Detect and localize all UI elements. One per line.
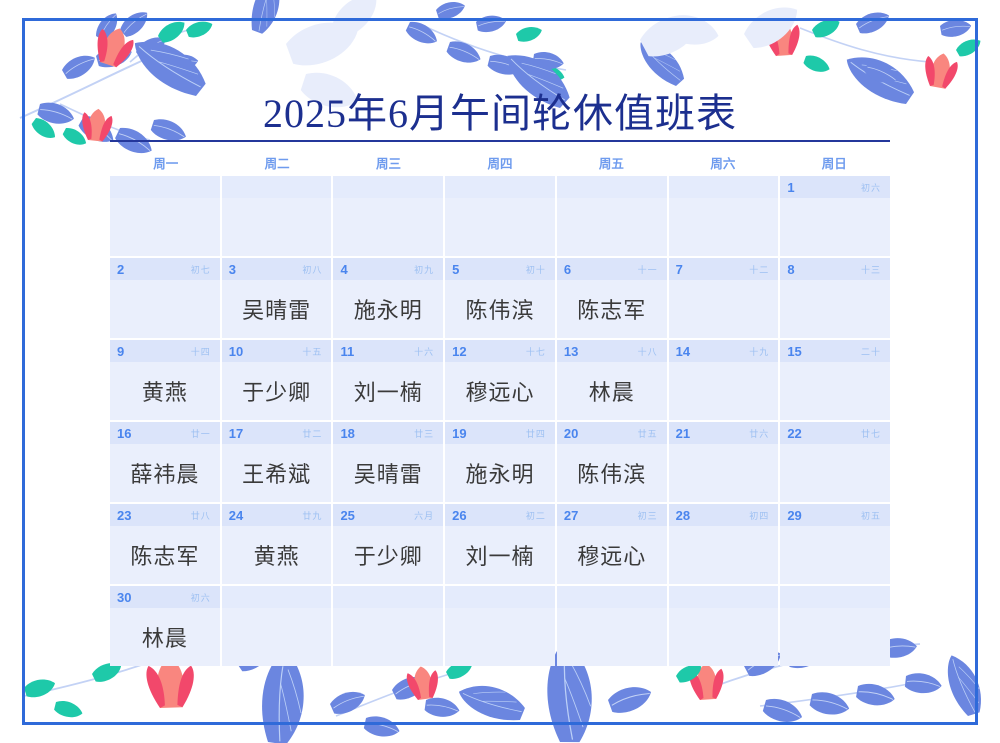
calendar-day-header: 8十三 bbox=[780, 258, 890, 280]
calendar-empty-cell[interactable] bbox=[333, 586, 443, 666]
calendar-day-body bbox=[669, 444, 779, 502]
calendar-day-body bbox=[110, 280, 220, 338]
calendar-day-header bbox=[110, 176, 220, 198]
calendar-day-body: 王希斌 bbox=[222, 444, 332, 502]
calendar-lunar-date: 初二 bbox=[526, 509, 548, 522]
calendar-day-body bbox=[780, 362, 890, 420]
weekday-header-sun: 周日 bbox=[779, 153, 890, 172]
calendar-lunar-date: 初五 bbox=[861, 509, 883, 522]
calendar-day-body bbox=[333, 608, 443, 666]
weekday-header-mon: 周一 bbox=[110, 153, 221, 172]
calendar-day-body bbox=[333, 198, 443, 256]
page-title-wrap: 2025年6月午间轮休值班表 bbox=[150, 92, 850, 136]
calendar-week-row: 16廿一薛祎晨17廿二王希斌18廿三吴晴雷19廿四施永明20廿五陈伟滨21廿六2… bbox=[110, 422, 890, 502]
calendar-day-body bbox=[780, 608, 890, 666]
calendar-day-header bbox=[669, 586, 779, 608]
duty-person-name: 林晨 bbox=[142, 621, 188, 653]
calendar-day-cell[interactable]: 29初五 bbox=[780, 504, 890, 584]
calendar-lunar-date: 十六 bbox=[414, 345, 436, 358]
calendar-day-header bbox=[222, 586, 332, 608]
calendar-day-body bbox=[445, 198, 555, 256]
calendar-lunar-date: 十一 bbox=[638, 263, 660, 276]
calendar-day-header: 16廿一 bbox=[110, 422, 220, 444]
calendar-day-cell[interactable]: 7十二 bbox=[669, 258, 779, 338]
calendar-day-header: 30初六 bbox=[110, 586, 220, 608]
calendar-day-body: 吴晴雷 bbox=[333, 444, 443, 502]
calendar-day-body bbox=[445, 608, 555, 666]
weekday-header-sat: 周六 bbox=[667, 153, 778, 172]
calendar-lunar-date: 廿八 bbox=[191, 509, 213, 522]
calendar-day-header: 1初六 bbox=[780, 176, 890, 198]
calendar-day-header bbox=[222, 176, 332, 198]
calendar-day-cell[interactable]: 6十一陈志军 bbox=[557, 258, 667, 338]
calendar-day-number: 12 bbox=[452, 344, 472, 359]
calendar-empty-cell[interactable] bbox=[557, 586, 667, 666]
calendar-day-header: 2初七 bbox=[110, 258, 220, 280]
duty-person-name: 吴晴雷 bbox=[354, 457, 423, 489]
calendar-day-header: 4初九 bbox=[333, 258, 443, 280]
calendar-day-body bbox=[669, 362, 779, 420]
calendar-day-body: 黄燕 bbox=[222, 526, 332, 584]
calendar-day-number: 1 bbox=[787, 180, 807, 195]
calendar-lunar-date: 廿七 bbox=[861, 427, 883, 440]
calendar-empty-cell[interactable] bbox=[222, 586, 332, 666]
calendar-day-header: 14十九 bbox=[669, 340, 779, 362]
duty-person-name: 刘一楠 bbox=[466, 539, 535, 571]
calendar-day-number: 30 bbox=[117, 590, 137, 605]
calendar-lunar-date: 二十 bbox=[861, 345, 883, 358]
calendar-day-cell[interactable]: 30初六林晨 bbox=[110, 586, 220, 666]
calendar-day-header: 28初四 bbox=[669, 504, 779, 526]
calendar-day-number: 23 bbox=[117, 508, 137, 523]
weekday-header-wed: 周三 bbox=[333, 153, 444, 172]
calendar-day-header: 15二十 bbox=[780, 340, 890, 362]
calendar-day-body: 林晨 bbox=[110, 608, 220, 666]
calendar-day-body bbox=[557, 608, 667, 666]
calendar-day-body bbox=[669, 198, 779, 256]
calendar-lunar-date: 十四 bbox=[191, 345, 213, 358]
weekday-header-fri: 周五 bbox=[556, 153, 667, 172]
calendar-day-number: 25 bbox=[340, 508, 360, 523]
calendar-day-number: 29 bbox=[787, 508, 807, 523]
calendar-day-number: 13 bbox=[564, 344, 584, 359]
weekday-header-tue: 周二 bbox=[221, 153, 332, 172]
calendar-lunar-date: 十三 bbox=[861, 263, 883, 276]
duty-person-name: 穆远心 bbox=[466, 375, 535, 407]
duty-person-name: 施永明 bbox=[354, 293, 423, 325]
calendar-day-body: 穆远心 bbox=[445, 362, 555, 420]
duty-person-name: 黄燕 bbox=[142, 375, 188, 407]
calendar-day-header: 23廿八 bbox=[110, 504, 220, 526]
calendar-lunar-date: 十七 bbox=[526, 345, 548, 358]
calendar-day-header: 13十八 bbox=[557, 340, 667, 362]
calendar-week-row: 2初七3初八吴晴雷4初九施永明5初十陈伟滨6十一陈志军7十二8十三 bbox=[110, 258, 890, 338]
calendar-lunar-date: 十八 bbox=[638, 345, 660, 358]
calendar-day-number: 21 bbox=[676, 426, 696, 441]
calendar-day-body: 林晨 bbox=[557, 362, 667, 420]
calendar-day-header: 22廿七 bbox=[780, 422, 890, 444]
calendar-day-number: 9 bbox=[117, 344, 137, 359]
calendar-day-number: 28 bbox=[676, 508, 696, 523]
calendar-day-header: 25六月 bbox=[333, 504, 443, 526]
calendar-day-cell[interactable]: 11十六刘一楠 bbox=[333, 340, 443, 420]
calendar-day-cell[interactable]: 28初四 bbox=[669, 504, 779, 584]
calendar-day-cell[interactable]: 23廿八陈志军 bbox=[110, 504, 220, 584]
calendar-lunar-date: 初三 bbox=[638, 509, 660, 522]
calendar-day-cell[interactable]: 15二十 bbox=[780, 340, 890, 420]
calendar-day-cell[interactable]: 12十七穆远心 bbox=[445, 340, 555, 420]
calendar-day-header: 20廿五 bbox=[557, 422, 667, 444]
calendar-day-header bbox=[445, 586, 555, 608]
calendar-day-number: 17 bbox=[229, 426, 249, 441]
calendar-lunar-date: 初六 bbox=[191, 591, 213, 604]
calendar-lunar-date: 廿四 bbox=[526, 427, 548, 440]
calendar-day-header: 3初八 bbox=[222, 258, 332, 280]
calendar-day-header bbox=[669, 176, 779, 198]
duty-person-name: 于少卿 bbox=[354, 539, 423, 571]
calendar-day-body bbox=[780, 526, 890, 584]
calendar-lunar-date: 廿二 bbox=[302, 427, 324, 440]
calendar-empty-cell[interactable] bbox=[445, 176, 555, 256]
calendar-day-number: 3 bbox=[229, 262, 249, 277]
calendar-day-header: 27初三 bbox=[557, 504, 667, 526]
duty-person-name: 于少卿 bbox=[242, 375, 311, 407]
calendar-day-header bbox=[557, 586, 667, 608]
calendar-lunar-date: 廿六 bbox=[749, 427, 771, 440]
calendar-day-body: 陈志军 bbox=[557, 280, 667, 338]
calendar-empty-cell[interactable] bbox=[445, 586, 555, 666]
calendar-day-cell[interactable]: 8十三 bbox=[780, 258, 890, 338]
calendar-day-cell[interactable]: 17廿二王希斌 bbox=[222, 422, 332, 502]
frame-border-top bbox=[22, 18, 978, 21]
calendar-day-body: 刘一楠 bbox=[333, 362, 443, 420]
calendar-day-cell[interactable]: 1初六 bbox=[780, 176, 890, 256]
calendar-day-header: 5初十 bbox=[445, 258, 555, 280]
calendar-day-header bbox=[333, 176, 443, 198]
calendar-day-number: 18 bbox=[340, 426, 360, 441]
calendar-day-number: 27 bbox=[564, 508, 584, 523]
calendar-empty-cell[interactable] bbox=[669, 586, 779, 666]
calendar-day-cell[interactable]: 3初八吴晴雷 bbox=[222, 258, 332, 338]
calendar-day-body: 吴晴雷 bbox=[222, 280, 332, 338]
page-title: 2025年6月午间轮休值班表 bbox=[150, 92, 850, 136]
calendar-day-header bbox=[557, 176, 667, 198]
calendar-day-body bbox=[780, 280, 890, 338]
calendar-day-body: 黄燕 bbox=[110, 362, 220, 420]
calendar-lunar-date: 初四 bbox=[749, 509, 771, 522]
calendar-day-body bbox=[110, 198, 220, 256]
calendar-day-number: 15 bbox=[787, 344, 807, 359]
calendar-day-number: 11 bbox=[340, 344, 360, 359]
duty-person-name: 吴晴雷 bbox=[242, 293, 311, 325]
calendar-day-header: 21廿六 bbox=[669, 422, 779, 444]
calendar-day-body: 陈志军 bbox=[110, 526, 220, 584]
calendar-day-body bbox=[222, 608, 332, 666]
frame-border-left bbox=[22, 18, 25, 725]
calendar-day-header: 19廿四 bbox=[445, 422, 555, 444]
calendar-day-number: 22 bbox=[787, 426, 807, 441]
calendar-day-header: 17廿二 bbox=[222, 422, 332, 444]
calendar-day-cell[interactable]: 10十五于少卿 bbox=[222, 340, 332, 420]
calendar-day-body: 于少卿 bbox=[222, 362, 332, 420]
calendar-day-cell[interactable]: 16廿一薛祎晨 bbox=[110, 422, 220, 502]
calendar-day-body bbox=[669, 608, 779, 666]
duty-person-name: 林晨 bbox=[589, 375, 635, 407]
calendar-empty-cell[interactable] bbox=[110, 176, 220, 256]
calendar-day-body bbox=[780, 198, 890, 256]
calendar-day-number: 20 bbox=[564, 426, 584, 441]
calendar-day-number: 14 bbox=[676, 344, 696, 359]
calendar-day-header: 26初二 bbox=[445, 504, 555, 526]
calendar-day-cell[interactable]: 4初九施永明 bbox=[333, 258, 443, 338]
calendar-day-header: 10十五 bbox=[222, 340, 332, 362]
calendar-empty-cell[interactable] bbox=[780, 586, 890, 666]
calendar-day-body: 薛祎晨 bbox=[110, 444, 220, 502]
calendar-week-row: 30初六林晨 bbox=[110, 586, 890, 666]
calendar-day-body: 陈伟滨 bbox=[557, 444, 667, 502]
calendar-day-body: 陈伟滨 bbox=[445, 280, 555, 338]
calendar-lunar-date: 六月 bbox=[414, 509, 436, 522]
calendar-lunar-date: 初七 bbox=[191, 263, 213, 276]
calendar-lunar-date: 十九 bbox=[749, 345, 771, 358]
calendar-lunar-date: 十五 bbox=[302, 345, 324, 358]
calendar-week-row: 9十四黄燕10十五于少卿11十六刘一楠12十七穆远心13十八林晨14十九15二十 bbox=[110, 340, 890, 420]
calendar-page: 2025年6月午间轮休值班表 周一 周二 周三 周四 周五 周六 周日 1初六2… bbox=[0, 0, 1000, 743]
duty-person-name: 黄燕 bbox=[254, 539, 300, 571]
calendar-day-header: 9十四 bbox=[110, 340, 220, 362]
calendar-day-header: 12十七 bbox=[445, 340, 555, 362]
duty-person-name: 薛祎晨 bbox=[130, 457, 199, 489]
calendar-day-header: 7十二 bbox=[669, 258, 779, 280]
calendar-day-body: 施永明 bbox=[333, 280, 443, 338]
calendar-day-number: 4 bbox=[340, 262, 360, 277]
calendar-day-number: 16 bbox=[117, 426, 137, 441]
calendar-day-cell[interactable]: 24廿九黄燕 bbox=[222, 504, 332, 584]
calendar-day-number: 10 bbox=[229, 344, 249, 359]
weekday-header-thu: 周四 bbox=[444, 153, 555, 172]
calendar-day-cell[interactable]: 5初十陈伟滨 bbox=[445, 258, 555, 338]
calendar-day-body bbox=[222, 198, 332, 256]
calendar-day-cell[interactable]: 26初二刘一楠 bbox=[445, 504, 555, 584]
calendar-empty-cell[interactable] bbox=[669, 176, 779, 256]
calendar-day-cell[interactable]: 18廿三吴晴雷 bbox=[333, 422, 443, 502]
calendar-day-number: 8 bbox=[787, 262, 807, 277]
calendar-day-header bbox=[780, 586, 890, 608]
calendar-empty-cell[interactable] bbox=[222, 176, 332, 256]
calendar-grid: 周一 周二 周三 周四 周五 周六 周日 1初六2初七3初八吴晴雷4初九施永明5… bbox=[110, 148, 890, 668]
calendar-day-body bbox=[780, 444, 890, 502]
duty-person-name: 陈伟滨 bbox=[577, 457, 646, 489]
calendar-lunar-date: 廿一 bbox=[191, 427, 213, 440]
calendar-empty-cell[interactable] bbox=[557, 176, 667, 256]
calendar-lunar-date: 廿三 bbox=[414, 427, 436, 440]
calendar-day-cell[interactable]: 9十四黄燕 bbox=[110, 340, 220, 420]
calendar-day-number: 2 bbox=[117, 262, 137, 277]
calendar-day-body bbox=[669, 526, 779, 584]
calendar-day-cell[interactable]: 22廿七 bbox=[780, 422, 890, 502]
calendar-day-number: 7 bbox=[676, 262, 696, 277]
calendar-day-cell[interactable]: 13十八林晨 bbox=[557, 340, 667, 420]
calendar-day-header: 29初五 bbox=[780, 504, 890, 526]
duty-person-name: 王希斌 bbox=[242, 457, 311, 489]
calendar-lunar-date: 廿五 bbox=[638, 427, 660, 440]
calendar-lunar-date: 十二 bbox=[749, 263, 771, 276]
duty-person-name: 陈志军 bbox=[130, 539, 199, 571]
calendar-week-row: 23廿八陈志军24廿九黄燕25六月于少卿26初二刘一楠27初三穆远心28初四29… bbox=[110, 504, 890, 584]
calendar-day-cell[interactable]: 19廿四施永明 bbox=[445, 422, 555, 502]
duty-person-name: 施永明 bbox=[466, 457, 535, 489]
weekday-header-row: 周一 周二 周三 周四 周五 周六 周日 bbox=[110, 148, 890, 176]
calendar-day-header bbox=[445, 176, 555, 198]
calendar-empty-cell[interactable] bbox=[333, 176, 443, 256]
calendar-day-body: 刘一楠 bbox=[445, 526, 555, 584]
calendar-day-cell[interactable]: 21廿六 bbox=[669, 422, 779, 502]
calendar-day-cell[interactable]: 27初三穆远心 bbox=[557, 504, 667, 584]
calendar-day-body: 穆远心 bbox=[557, 526, 667, 584]
calendar-day-cell[interactable]: 20廿五陈伟滨 bbox=[557, 422, 667, 502]
calendar-day-body: 于少卿 bbox=[333, 526, 443, 584]
calendar-day-header bbox=[333, 586, 443, 608]
calendar-day-number: 26 bbox=[452, 508, 472, 523]
calendar-day-number: 6 bbox=[564, 262, 584, 277]
calendar-lunar-date: 初十 bbox=[526, 263, 548, 276]
duty-person-name: 刘一楠 bbox=[354, 375, 423, 407]
calendar-day-header: 18廿三 bbox=[333, 422, 443, 444]
calendar-day-cell[interactable]: 2初七 bbox=[110, 258, 220, 338]
frame-border-right bbox=[975, 18, 978, 725]
title-underline bbox=[110, 140, 890, 142]
calendar-day-body bbox=[669, 280, 779, 338]
calendar-day-number: 19 bbox=[452, 426, 472, 441]
calendar-weeks: 1初六2初七3初八吴晴雷4初九施永明5初十陈伟滨6十一陈志军7十二8十三9十四黄… bbox=[110, 176, 890, 666]
calendar-lunar-date: 初六 bbox=[861, 181, 883, 194]
calendar-day-cell[interactable]: 25六月于少卿 bbox=[333, 504, 443, 584]
calendar-day-header: 24廿九 bbox=[222, 504, 332, 526]
calendar-day-body: 施永明 bbox=[445, 444, 555, 502]
duty-person-name: 穆远心 bbox=[577, 539, 646, 571]
duty-person-name: 陈伟滨 bbox=[466, 293, 535, 325]
calendar-lunar-date: 初八 bbox=[302, 263, 324, 276]
calendar-day-number: 24 bbox=[229, 508, 249, 523]
duty-person-name: 陈志军 bbox=[577, 293, 646, 325]
frame-border-bottom bbox=[22, 722, 978, 725]
calendar-week-row: 1初六 bbox=[110, 176, 890, 256]
calendar-day-header: 6十一 bbox=[557, 258, 667, 280]
calendar-day-header: 11十六 bbox=[333, 340, 443, 362]
calendar-lunar-date: 初九 bbox=[414, 263, 436, 276]
calendar-day-number: 5 bbox=[452, 262, 472, 277]
calendar-day-cell[interactable]: 14十九 bbox=[669, 340, 779, 420]
calendar-day-body bbox=[557, 198, 667, 256]
calendar-lunar-date: 廿九 bbox=[302, 509, 324, 522]
